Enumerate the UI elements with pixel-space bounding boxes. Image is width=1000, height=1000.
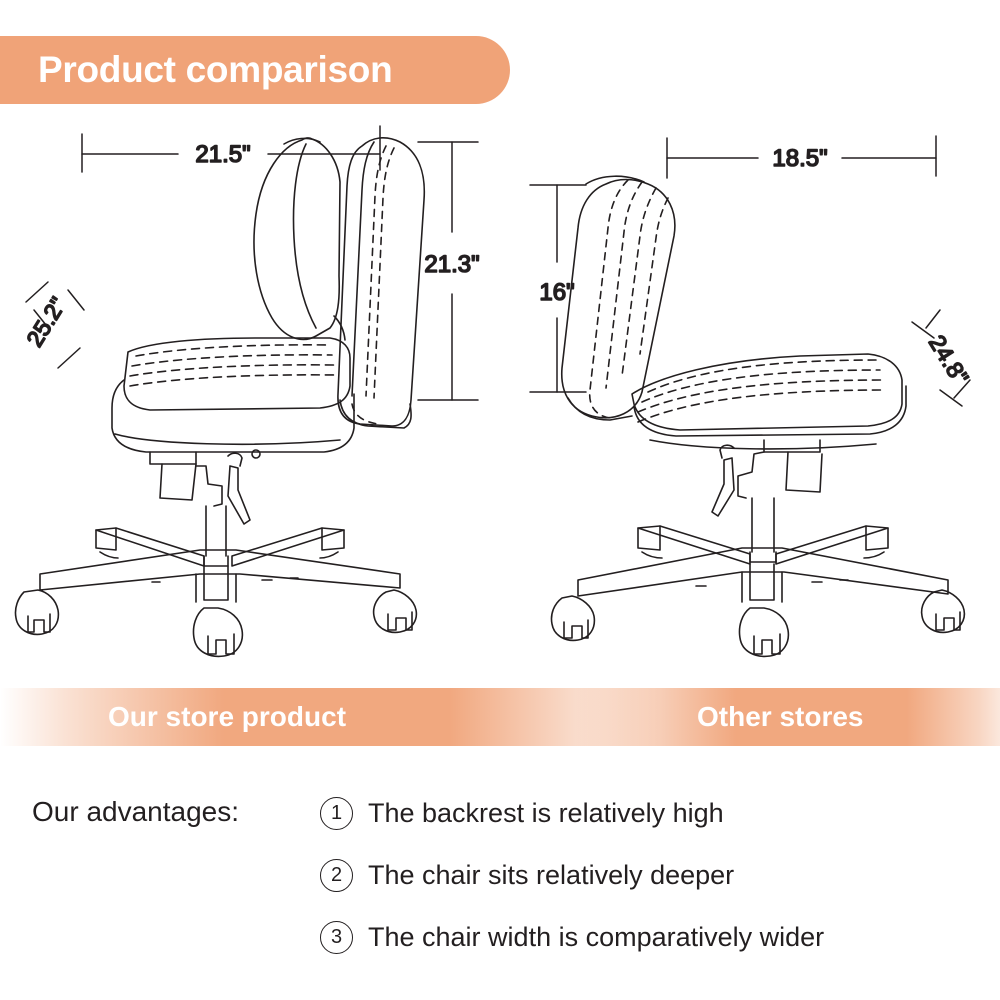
left-base-arm-b <box>96 528 204 566</box>
right-seat-stitch-3 <box>638 380 884 412</box>
left-chair-diagram: 21.5" 21.3" 25.2" <box>0 104 520 684</box>
right-base-joint-c <box>864 552 884 558</box>
left-base-center-arm <box>204 566 228 600</box>
right-cylinder-collar <box>750 552 776 562</box>
left-base-joint-c <box>320 552 338 558</box>
left-caster-1 <box>15 590 58 634</box>
left-mech-plate <box>150 452 196 464</box>
left-caster-3 <box>374 590 417 632</box>
right-seat-underline <box>650 440 876 449</box>
right-base-center-edges <box>742 572 782 602</box>
right-caster-3 <box>922 590 965 632</box>
right-base-center-arm <box>750 564 774 600</box>
right-seat-top <box>632 354 902 430</box>
left-backrest-outline <box>338 138 424 426</box>
left-base-joint-b <box>100 552 118 558</box>
list-item: 3 The chair width is comparatively wider <box>320 906 1000 968</box>
left-tilt-hook <box>228 453 242 466</box>
left-seat-underline <box>115 434 340 444</box>
right-chair-diagram: 18.5" 16" 24.8" <box>520 104 1000 684</box>
page-title: Product comparison <box>0 49 392 91</box>
left-width-label: 21.5" <box>195 141 250 168</box>
right-mech-bracket <box>738 452 764 498</box>
right-base-joint-b <box>642 552 662 558</box>
advantage-number-1: 1 <box>320 797 353 830</box>
right-mech-knob <box>786 452 822 492</box>
left-base-arm-c <box>232 528 344 566</box>
left-mech-knob <box>160 464 196 500</box>
right-gas-cylinder <box>752 498 774 552</box>
left-base-detail <box>152 578 298 582</box>
right-caster-2 <box>739 608 788 656</box>
list-item: 2 The chair sits relatively deeper <box>320 844 1000 906</box>
right-caster-1 <box>551 596 594 640</box>
advantage-text-2: The chair sits relatively deeper <box>368 860 734 891</box>
right-base-main-arm <box>578 548 948 596</box>
advantages-list: 1 The backrest is relatively high 2 The … <box>320 782 1000 968</box>
right-mech-plate <box>764 440 820 452</box>
header-banner: Product comparison <box>0 36 510 104</box>
right-tilt-hook <box>720 445 734 458</box>
left-caster-2 <box>193 608 242 656</box>
left-pillow-seam <box>294 144 317 328</box>
right-width-label: 18.5" <box>772 145 827 172</box>
advantage-number-2: 2 <box>320 859 353 892</box>
right-depth-label: 24.8" <box>924 330 974 389</box>
right-caption-band: Other stores <box>575 688 1000 746</box>
right-caption-label: Other stores <box>575 701 864 733</box>
chair-drawings: 21.5" 21.3" 25.2" <box>0 104 1000 684</box>
right-seat-stitch-4 <box>638 390 886 422</box>
left-backrest-base-stitch <box>352 404 378 424</box>
right-tilt-lever <box>712 458 734 516</box>
left-seat-top <box>124 338 350 410</box>
left-caption-band: Our store product <box>0 688 660 746</box>
left-depth-label: 25.2" <box>21 292 71 351</box>
left-backrest-stitch-2 <box>374 148 394 398</box>
list-item: 1 The backrest is relatively high <box>320 782 1000 844</box>
advantage-text-3: The chair width is comparatively wider <box>368 922 824 953</box>
right-backrest-stitch-1 <box>590 180 628 418</box>
left-base-main-arm <box>40 550 400 590</box>
left-caption-label: Our store product <box>0 701 346 733</box>
left-backrest-seam <box>352 142 374 396</box>
left-mech-bracket <box>196 466 222 506</box>
advantage-number-3: 3 <box>320 921 353 954</box>
left-gas-cylinder <box>206 506 226 556</box>
advantage-text-1: The backrest is relatively high <box>368 798 724 829</box>
right-base-detail <box>696 580 848 586</box>
left-base-center-edges <box>196 574 236 602</box>
left-tilt-lever <box>228 466 250 524</box>
advantages-label: Our advantages: <box>32 796 239 828</box>
left-pillow-top-fold <box>284 138 320 144</box>
infographic-root: Product comparison 21.5" <box>0 0 1000 1000</box>
left-seat-stitch-4 <box>130 375 336 386</box>
left-cylinder-collar <box>204 556 228 566</box>
right-base-arm-b <box>638 526 750 564</box>
right-seat-stitch-1 <box>648 360 876 392</box>
left-lumbar-pillow <box>254 138 340 340</box>
left-pillow-corner <box>334 316 345 340</box>
left-height-label: 21.3" <box>424 251 479 278</box>
